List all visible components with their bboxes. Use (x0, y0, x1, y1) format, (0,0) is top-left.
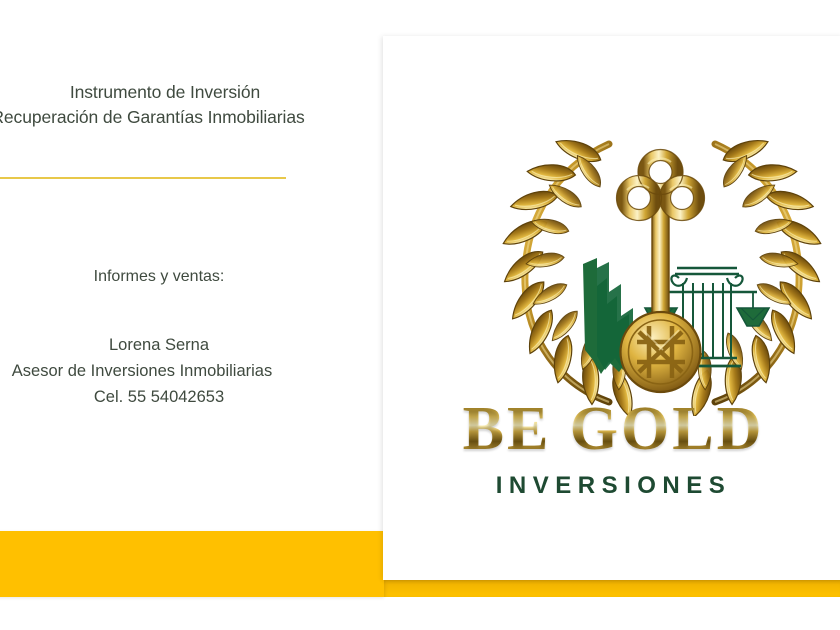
gold-divider-rule (0, 177, 286, 179)
be-gold-emblem (497, 126, 827, 416)
contact-role: Asesor de Inversiones Inmobiliarias (0, 358, 330, 384)
brand-wordmark: BE GOLD INVERSIONES (383, 398, 840, 500)
headline-line-2: Recuperación de Garantías Inmobiliarias (0, 105, 330, 130)
contact-lead-label: Informes y ventas: (0, 266, 330, 288)
footer-amber-bar (0, 531, 384, 597)
contact-spacer (0, 288, 330, 332)
footer-amber-bar-shadowed (384, 578, 840, 597)
slide-canvas: Instrumento de Inversión Recuperación de… (0, 0, 840, 630)
contact-block: Informes y ventas: Lorena Serna Asesor d… (0, 266, 330, 410)
headline: Instrumento de Inversión Recuperación de… (0, 80, 330, 130)
headline-line-1: Instrumento de Inversión (0, 80, 330, 105)
brand-tagline: INVERSIONES (383, 472, 840, 500)
laurel-wreath-left (498, 131, 634, 416)
contact-name: Lorena Serna (0, 332, 330, 358)
contact-phone: Cel. 55 54042653 (0, 384, 330, 410)
brand-name: BE GOLD (463, 398, 765, 460)
gold-key-icon (617, 150, 705, 393)
